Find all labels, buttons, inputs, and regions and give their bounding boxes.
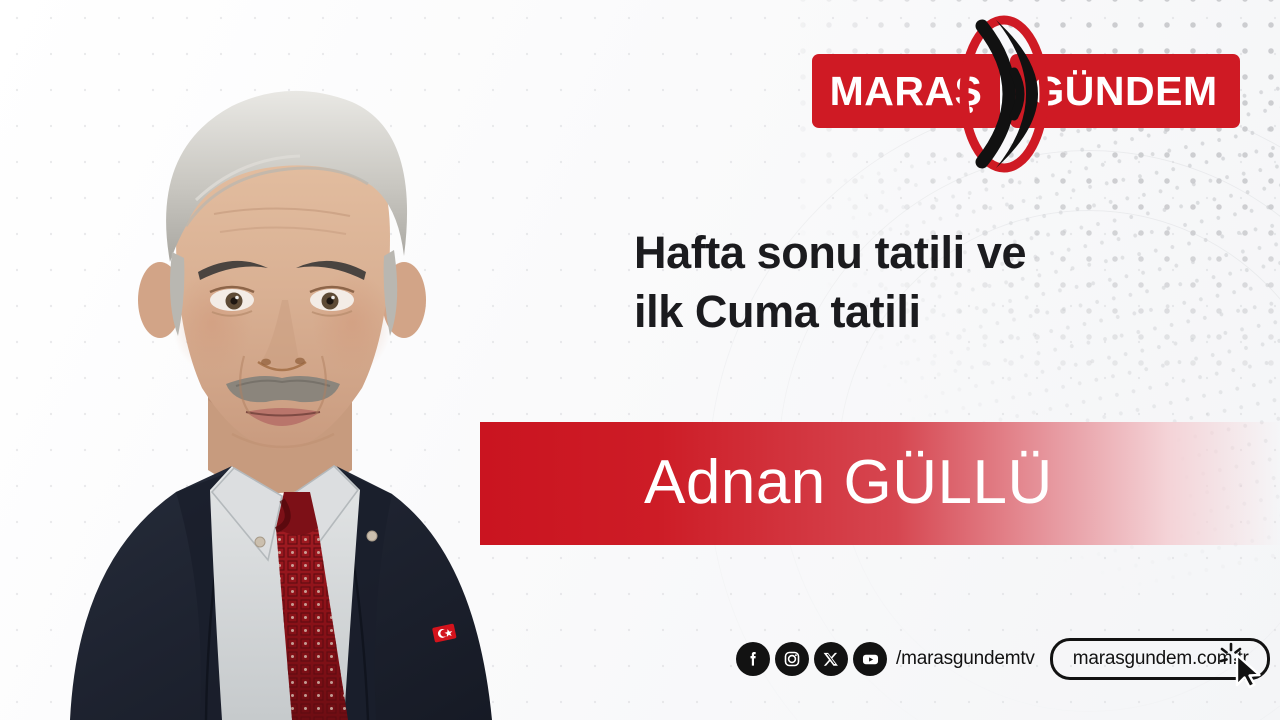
website-pill[interactable]: marasgundem.com.tr (1050, 638, 1270, 680)
footer-bar: /marasgundemtv marasgundem.com.tr (736, 638, 1270, 680)
x-twitter-icon[interactable] (814, 642, 848, 676)
news-quote-card: Adnan GÜLLÜ Hafta sonu tatili ve ilk Cum… (0, 0, 1280, 720)
logo-word-gundem: GÜNDEM (1032, 71, 1217, 112)
youtube-icon[interactable] (853, 642, 887, 676)
headline-line-1: Hafta sonu tatili ve (634, 224, 1214, 283)
headline: Hafta sonu tatili ve ilk Cuma tatili (634, 224, 1214, 341)
facebook-icon[interactable] (736, 642, 770, 676)
logo-plate-right: GÜNDEM (1010, 54, 1240, 128)
logo-plate-left: MARAŞ (812, 54, 1000, 128)
author-name: Adnan GÜLLÜ (644, 451, 1053, 513)
author-portrait (0, 0, 560, 720)
logo-word-maras: MARAŞ (830, 71, 983, 112)
instagram-icon[interactable] (775, 642, 809, 676)
social-handle: /marasgundemtv (896, 648, 1035, 670)
website-url: marasgundem.com.tr (1073, 648, 1249, 670)
social-links (736, 642, 887, 676)
brand-logo[interactable]: MARAŞ GÜNDEM (812, 46, 1240, 138)
author-name-banner: Adnan GÜLLÜ (480, 422, 1280, 545)
headline-line-2: ilk Cuma tatili (634, 283, 1214, 342)
